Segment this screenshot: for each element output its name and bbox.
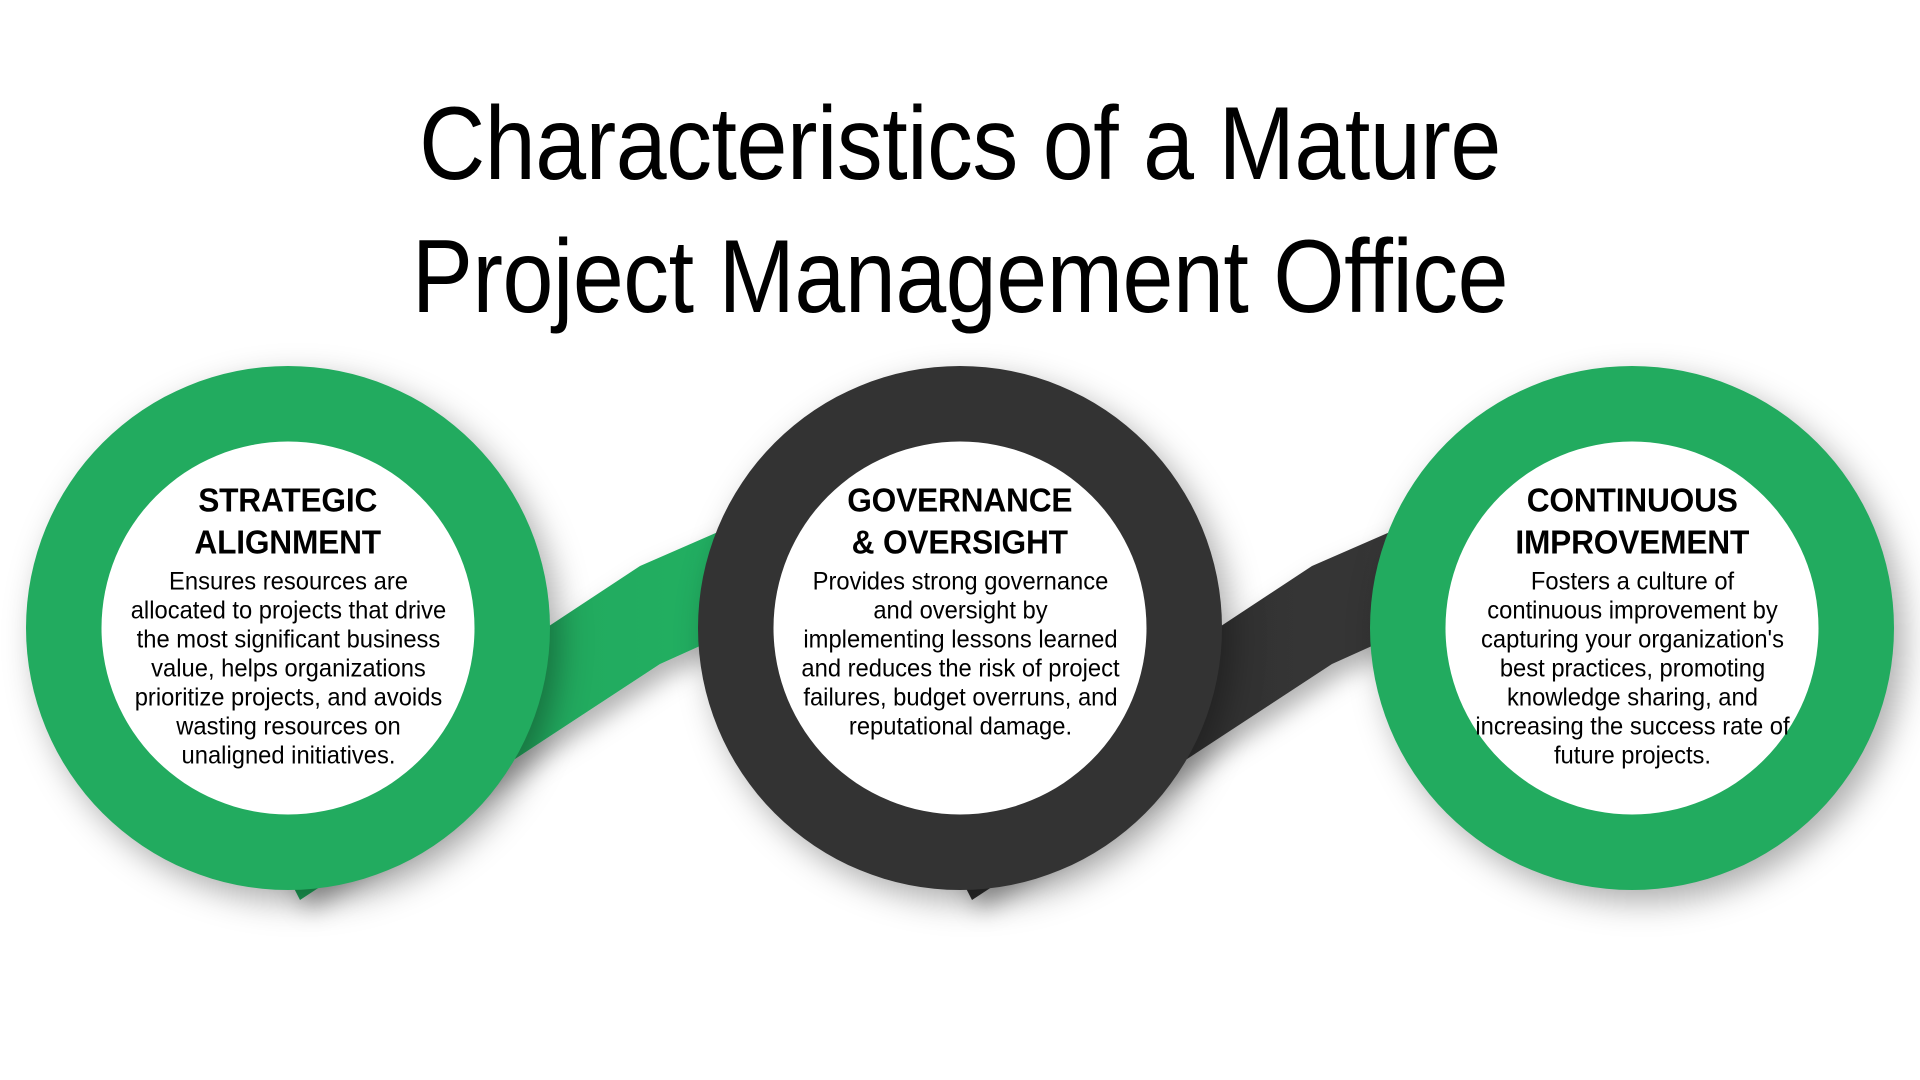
diagram-node-strategic-alignment[interactable]: STRATEGIC ALIGNMENT Ensures resources ar… [26, 366, 550, 890]
node-inner-disc: GOVERNANCE & OVERSIGHT Provides strong g… [774, 442, 1147, 815]
node-title: GOVERNANCE & OVERSIGHT [847, 480, 1072, 564]
diagram-stage: STRATEGIC ALIGNMENT Ensures resources ar… [0, 0, 1920, 1080]
node-inner-disc: CONTINUOUS IMPROVEMENT Fosters a culture… [1446, 442, 1819, 815]
node-title: STRATEGIC ALIGNMENT [195, 480, 382, 564]
node-body-text: Fosters a culture of continuous improvem… [1472, 568, 1791, 771]
node-body-text: Ensures resources are allocated to proje… [128, 568, 447, 771]
node-inner-disc: STRATEGIC ALIGNMENT Ensures resources ar… [102, 442, 475, 815]
diagram-node-governance-oversight[interactable]: GOVERNANCE & OVERSIGHT Provides strong g… [698, 366, 1222, 890]
node-title: CONTINUOUS IMPROVEMENT [1515, 480, 1749, 564]
node-body-text: Provides strong governance and oversight… [800, 568, 1119, 742]
slide-canvas: Characteristics of a Mature Project Mana… [0, 0, 1920, 1080]
diagram-node-continuous-improvement[interactable]: CONTINUOUS IMPROVEMENT Fosters a culture… [1370, 366, 1894, 890]
